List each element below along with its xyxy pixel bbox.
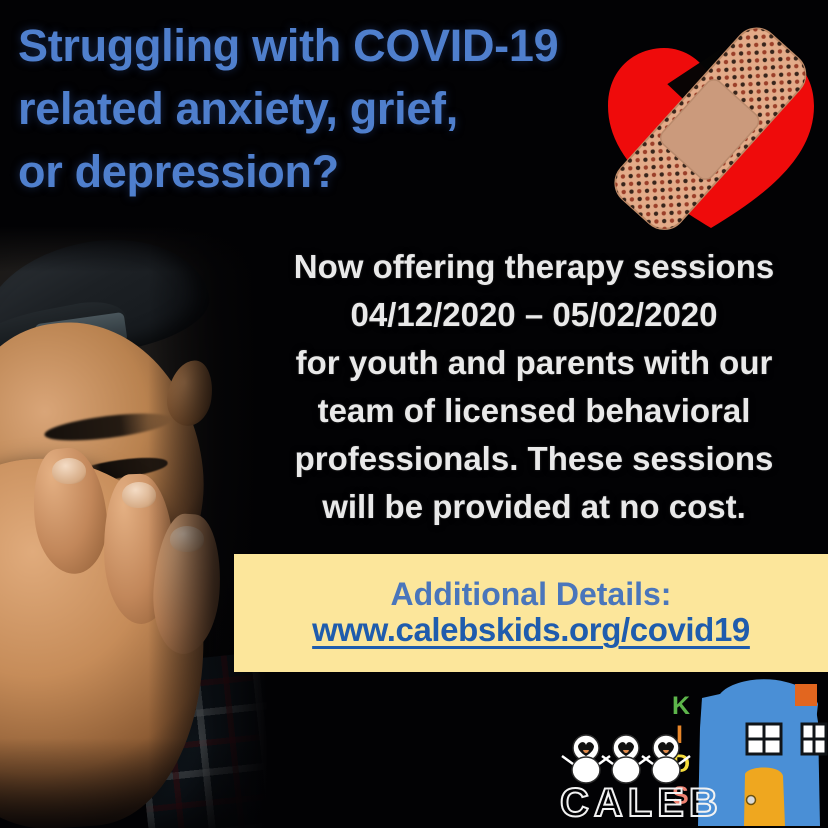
fingernail xyxy=(52,458,86,484)
body-line-5: professionals. These sessions xyxy=(246,435,822,483)
headline: Struggling with COVID-19 related anxiety… xyxy=(18,14,658,203)
flyer-canvas: Struggling with COVID-19 related anxiety… xyxy=(0,0,828,828)
distressed-person-photo xyxy=(0,226,268,828)
body-copy: Now offering therapy sessions 04/12/2020… xyxy=(246,243,822,531)
body-line-4: team of licensed behavioral xyxy=(246,387,822,435)
broken-heart-bandage-graphic xyxy=(598,22,824,234)
body-line-3: for youth and parents with our xyxy=(246,339,822,387)
headline-line-3: or depression? xyxy=(18,140,658,203)
body-line-2: 04/12/2020 – 05/02/2020 xyxy=(246,291,822,339)
chimney xyxy=(795,684,817,706)
calebs-kids-logo[interactable]: K I D S xyxy=(552,676,828,828)
additional-details-banner: Additional Details: www.calebskids.org/c… xyxy=(234,554,828,672)
website-url-link[interactable]: www.calebskids.org/covid19 xyxy=(312,613,750,648)
doorknob xyxy=(747,796,756,805)
body-line-6: will be provided at no cost. xyxy=(246,483,822,531)
figure xyxy=(602,735,650,783)
headline-line-1: Struggling with COVID-19 xyxy=(18,14,658,77)
body-line-1: Now offering therapy sessions xyxy=(246,243,822,291)
figures-group xyxy=(562,735,690,783)
kids-letter-k: K xyxy=(672,692,690,720)
banner-title: Additional Details: xyxy=(391,578,672,612)
headline-line-2: related anxiety, grief, xyxy=(18,77,658,140)
figure xyxy=(562,735,610,783)
photo-bottom-fade xyxy=(0,738,268,828)
caleb-wordmark: CALEB xyxy=(560,781,723,825)
